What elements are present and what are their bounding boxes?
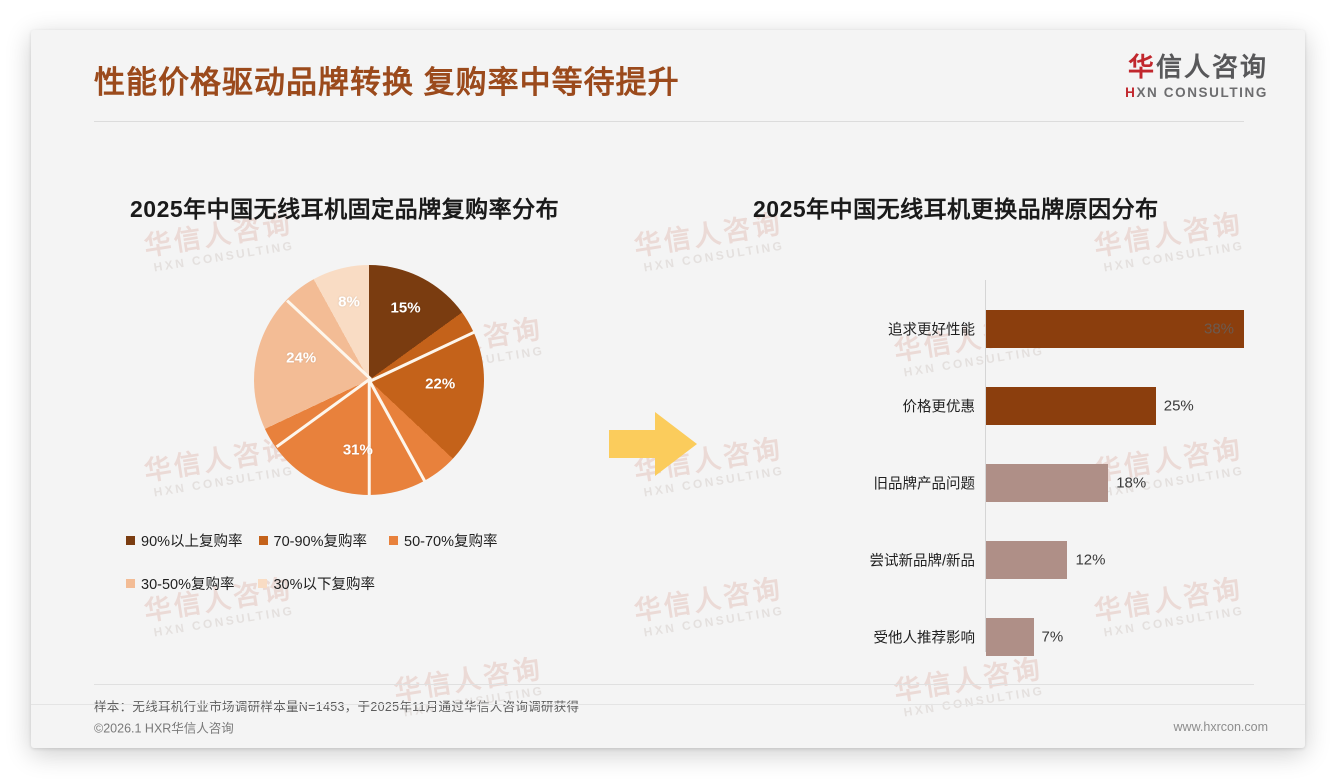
bar-value-label: 18%: [1116, 475, 1146, 492]
pie-legend-row: 90%以上复购率70-90%复购率50-70%复购率: [126, 530, 626, 551]
logo-chinese-accent: 华: [1128, 52, 1156, 82]
screenshot-root: 华信人咨询HXN CONSULTING华信人咨询HXN CONSULTING华信…: [0, 0, 1340, 780]
bar-row: 追求更好性能38%: [753, 310, 1253, 348]
header-divider: [94, 121, 1244, 122]
pie-separator: [370, 331, 475, 382]
bar-fill[interactable]: [986, 541, 1067, 579]
legend-label: 70-90%复购率: [274, 530, 367, 551]
logo-english: HXN CONSULTING: [1125, 85, 1268, 100]
copyright-text: ©2026.1 HXR华信人咨询: [94, 717, 234, 736]
pie-legend-item[interactable]: 30%以下复购率: [258, 573, 375, 594]
pie-separator: [368, 380, 426, 482]
legend-label: 90%以上复购率: [141, 530, 243, 551]
pie-legend-item[interactable]: 30-50%复购率: [126, 573, 234, 594]
pie-legend-row: 30-50%复购率30%以下复购率: [126, 573, 626, 594]
bar-value-label: 7%: [1042, 629, 1064, 646]
bar-value-label: 12%: [1075, 552, 1105, 569]
logo-english-accent: H: [1125, 85, 1136, 100]
pie-chart-panel: 2025年中国无线耳机固定品牌复购率分布 15%22%31%24%8% 90%以…: [94, 170, 654, 670]
pie-legend-item[interactable]: 90%以上复购率: [126, 530, 243, 551]
slide-header: 性能价格驱动品牌转换 复购率中等待提升 华信人咨询 HXN CONSULTING: [31, 30, 1305, 130]
bar-fill[interactable]: [986, 618, 1034, 656]
company-logo: 华信人咨询 HXN CONSULTING: [1125, 53, 1268, 100]
pie-separator: [276, 378, 371, 448]
pie-slice-label: 15%: [391, 300, 421, 317]
pie-legend-item[interactable]: 70-90%复购率: [259, 530, 367, 551]
bar-category-label: 尝试新品牌/新品: [869, 550, 975, 571]
slide-card: 华信人咨询HXN CONSULTING华信人咨询HXN CONSULTING华信…: [31, 30, 1305, 748]
right-arrow-icon: [609, 408, 697, 480]
bar-category-label: 追求更好性能: [888, 319, 975, 340]
bar-value-label: 25%: [1164, 398, 1194, 415]
logo-english-rest: XN CONSULTING: [1136, 85, 1268, 100]
bar-chart-title: 2025年中国无线耳机更换品牌原因分布: [753, 190, 1159, 224]
bar-row: 旧品牌产品问题18%: [753, 464, 1253, 502]
bar-row: 受他人推荐影响7%: [753, 618, 1253, 656]
pie-separator: [368, 380, 371, 495]
website-url[interactable]: www.hxrcon.com: [1174, 720, 1268, 734]
bar-category-label: 受他人推荐影响: [874, 627, 976, 648]
legend-label: 30-50%复购率: [141, 573, 234, 594]
bar-fill[interactable]: [986, 387, 1156, 425]
bar-row: 价格更优惠25%: [753, 387, 1253, 425]
legend-color-swatch: [258, 579, 267, 588]
bar-fill[interactable]: [986, 464, 1108, 502]
pie-slice-label: 31%: [343, 442, 373, 459]
bar-chart-panel: 2025年中国无线耳机更换品牌原因分布 追求更好性能38%价格更优惠25%旧品牌…: [731, 170, 1251, 670]
logo-chinese: 华信人咨询: [1125, 53, 1268, 83]
legend-label: 50-70%复购率: [404, 530, 497, 551]
bar-row: 尝试新品牌/新品12%: [753, 541, 1253, 579]
legend-color-swatch: [259, 536, 268, 545]
pie-slice-label: 22%: [425, 376, 455, 393]
pie-chart: 15%22%31%24%8%: [254, 265, 484, 495]
bar-category-label: 价格更优惠: [903, 396, 976, 417]
page-title: 性能价格驱动品牌转换 复购率中等待提升: [94, 57, 680, 102]
pie-slice-label: 24%: [286, 349, 316, 366]
legend-color-swatch: [389, 536, 398, 545]
pie-slice-label: 8%: [338, 294, 360, 311]
bar-chart: 追求更好性能38%价格更优惠25%旧品牌产品问题18%尝试新品牌/新品12%受他…: [753, 280, 1253, 660]
pie-chart-title: 2025年中国无线耳机固定品牌复购率分布: [130, 190, 559, 224]
legend-color-swatch: [126, 579, 135, 588]
pie-separator: [286, 299, 372, 380]
legend-color-swatch: [126, 536, 135, 545]
bar-value-label: 38%: [1204, 321, 1234, 338]
logo-chinese-rest: 信人咨询: [1156, 52, 1268, 82]
pie-legend-item[interactable]: 50-70%复购率: [389, 530, 497, 551]
pie-legend: 90%以上复购率70-90%复购率50-70%复购率30-50%复购率30%以下…: [126, 530, 626, 616]
bar-category-label: 旧品牌产品问题: [874, 473, 976, 494]
slide-footer: ©2026.1 HXR华信人咨询 www.hxrcon.com: [31, 704, 1305, 748]
legend-label: 30%以下复购率: [273, 573, 375, 594]
